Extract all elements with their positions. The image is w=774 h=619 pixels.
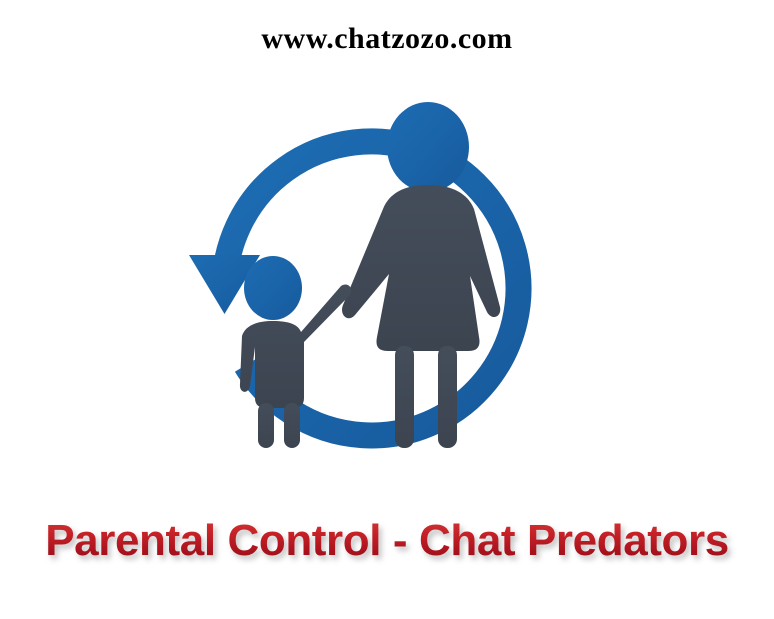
adult-right-leg bbox=[438, 346, 457, 448]
caption-text: Parental Control - Chat Predators bbox=[0, 516, 774, 566]
site-url-text: www.chatzozo.com bbox=[0, 22, 774, 56]
adult-head bbox=[387, 102, 469, 192]
adult-left-leg bbox=[395, 346, 414, 448]
poster-canvas: www.chatzozo.com bbox=[0, 0, 774, 619]
adult-body bbox=[342, 185, 500, 351]
child-right-leg bbox=[284, 403, 300, 448]
child-head bbox=[244, 256, 302, 320]
parental-control-icon bbox=[0, 62, 774, 502]
parental-control-illustration bbox=[127, 62, 647, 502]
child-left-leg bbox=[258, 403, 274, 448]
